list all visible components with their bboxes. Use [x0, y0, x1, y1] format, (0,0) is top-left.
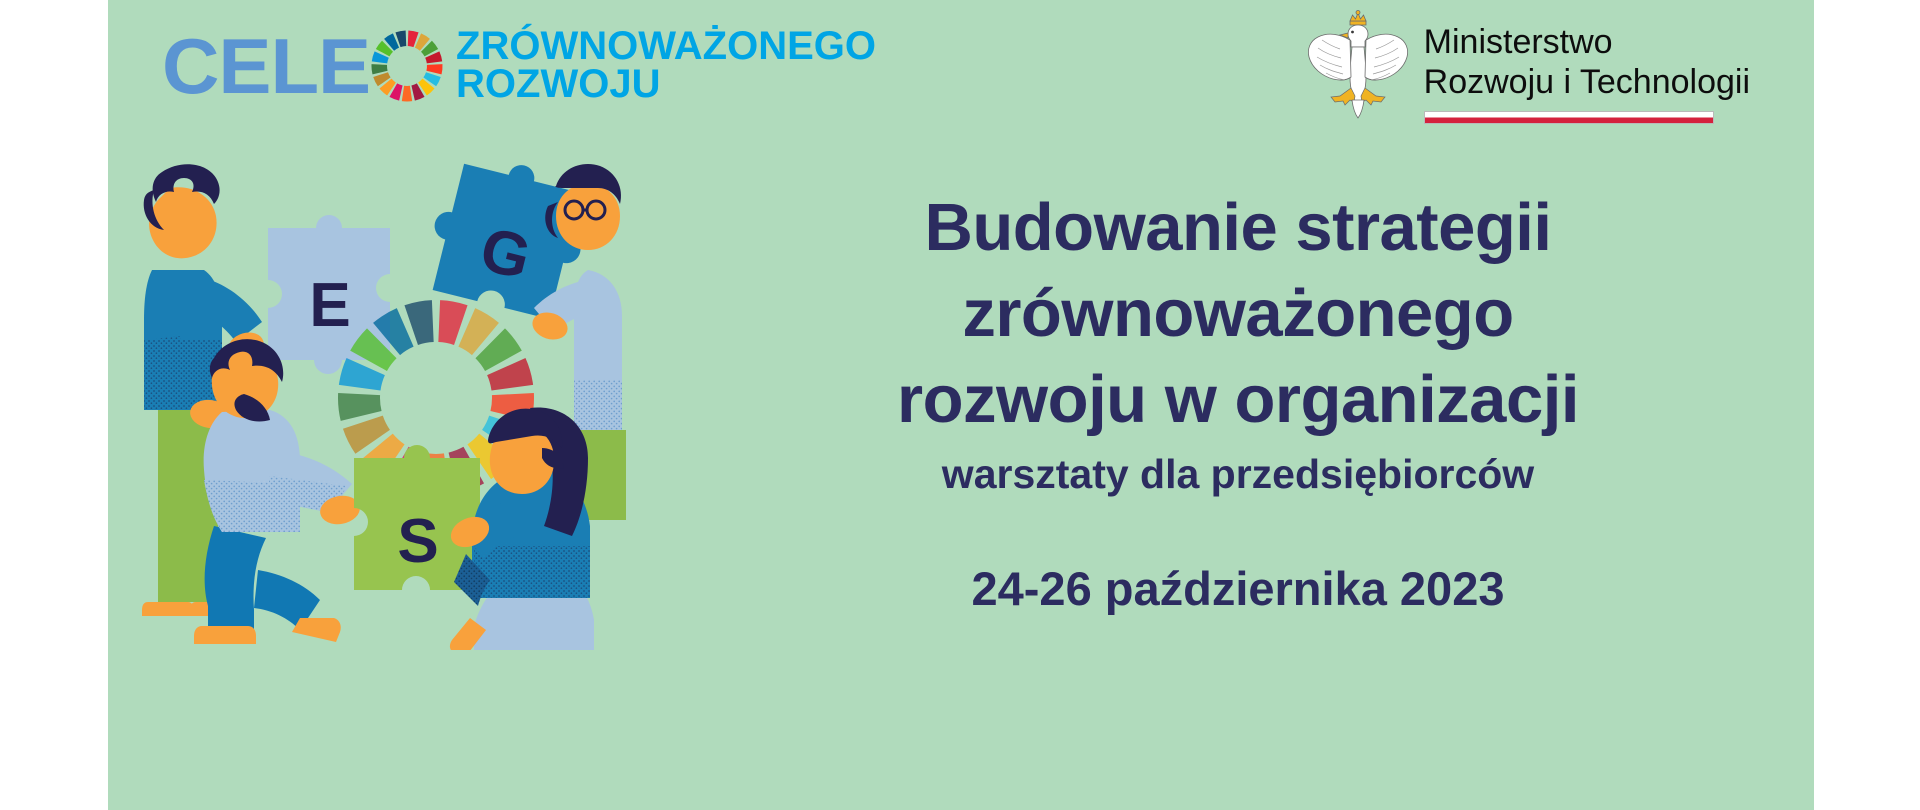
cele-subtitle-block: ZRÓWNOWAŻONEGO ROZWOJU: [456, 28, 876, 103]
polish-flag-bar: [1424, 111, 1714, 124]
cele-sdg-logo: CELE ZRÓWNOWAŻONEGO ROZWOJU: [164, 18, 876, 114]
title-line-2: zrównoważonego: [708, 271, 1768, 357]
ministry-logo-lockup: Ministerstwo Rozwoju i Technologii: [1306, 8, 1750, 124]
event-copy-block: Budowanie strategii zrównoważonego rozwo…: [708, 185, 1768, 617]
svg-text:E: E: [309, 271, 350, 340]
cele-line-1: ZRÓWNOWAŻONEGO: [456, 28, 876, 66]
svg-text:S: S: [397, 507, 438, 576]
cele-wordmark: CELE: [162, 27, 370, 105]
ministry-name-block: Ministerstwo Rozwoju i Technologii: [1424, 8, 1750, 124]
ministry-line-1: Ministerstwo: [1424, 22, 1750, 62]
title-line-3: rozwoju w organizacji: [708, 357, 1768, 443]
person-bottom-left: [194, 339, 362, 644]
banner-root: CELE ZRÓWNOWAŻONEGO ROZWOJU: [0, 0, 1920, 810]
page-title: Budowanie strategii zrównoważonego rozwo…: [708, 185, 1768, 443]
polish-eagle-emblem-icon: [1306, 8, 1410, 120]
ministry-line-2: Rozwoju i Technologii: [1424, 62, 1750, 102]
esg-teamwork-illustration: E G: [118, 150, 678, 650]
event-dates: 24-26 października 2023: [708, 561, 1768, 617]
banner-stage: CELE ZRÓWNOWAŻONEGO ROZWOJU: [108, 0, 1814, 810]
cele-line-2: ROZWOJU: [456, 66, 876, 104]
event-subtitle: warsztaty dla przedsiębiorców: [708, 449, 1768, 499]
sdg-color-wheel-icon: [370, 29, 444, 103]
title-line-1: Budowanie strategii: [708, 185, 1768, 271]
